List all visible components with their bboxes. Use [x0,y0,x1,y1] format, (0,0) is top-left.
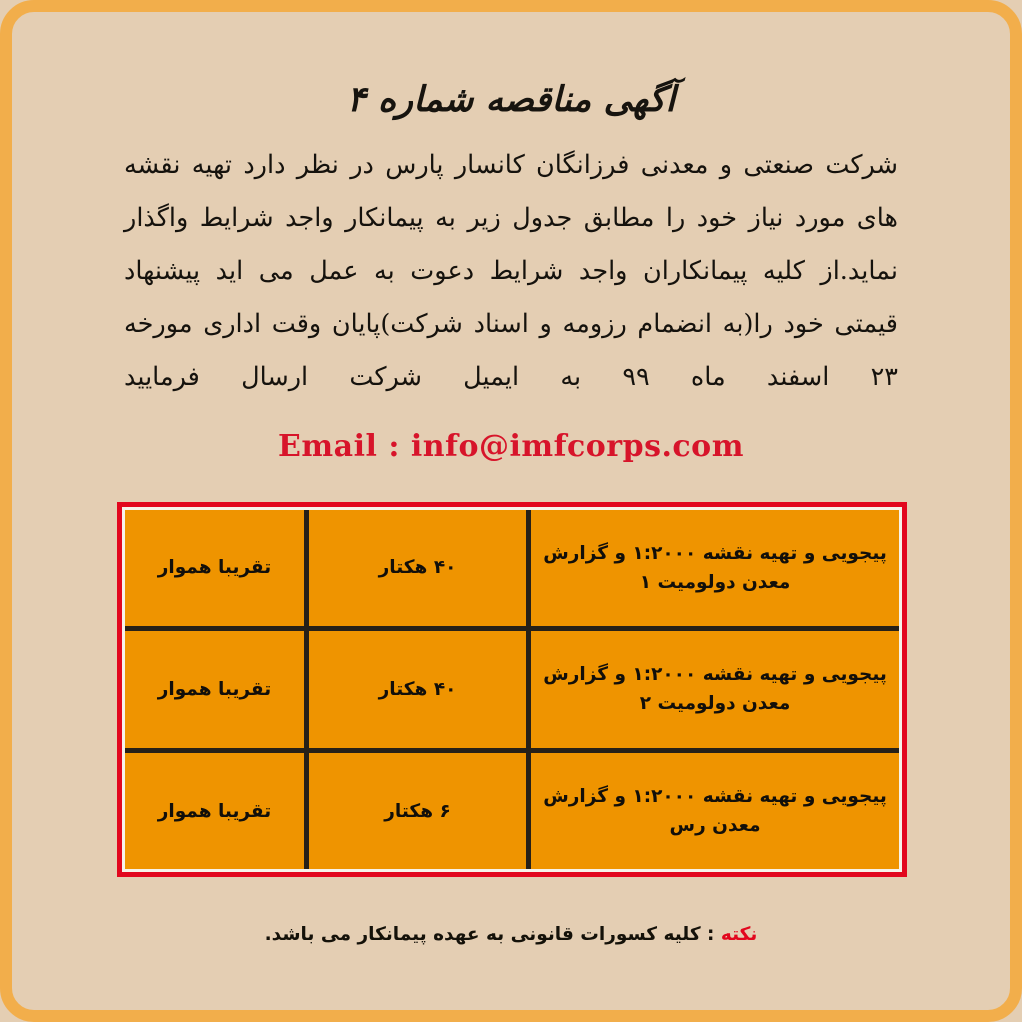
paragraph-line: شرکت صنعتی و معدنی فرزانگان کانسار پارس … [124,139,898,192]
footer-note-keyword: نکته [721,924,757,945]
footer-note-text: : کلیه کسورات قانونی به عهده پیمانکار می… [265,924,721,945]
cell-description: پیجویی و تهیه نقشه ۱:۲۰۰۰ و گزارش معدن د… [529,628,899,751]
paragraph-line: قیمتی خود را(به انضمام رزومه و اسناد شرک… [124,298,898,351]
cell-topography: تقریبا هموار [125,751,306,869]
poster-frame: آگهی مناقصه شماره ۴ شرکت صنعتی و معدنی ف… [0,0,1022,1022]
description-line-2: معدن دولومیت ۲ [640,693,791,714]
scope-table-grid: پیجویی و تهیه نقشه ۱:۲۰۰۰ و گزارش معدن د… [125,510,899,869]
paragraph-line: نماید.از کلیه پیمانکاران واجد شرایط دعوت… [124,245,898,298]
table-row: پیجویی و تهیه نقشه ۱:۲۰۰۰ و گزارش معدن د… [125,510,899,628]
cell-area: ۴۰ هکتار [306,510,528,628]
cell-description: پیجویی و تهیه نقشه ۱:۲۰۰۰ و گزارش معدن د… [529,510,899,628]
announcement-paragraph: شرکت صنعتی و معدنی فرزانگان کانسار پارس … [124,139,898,404]
paragraph-line: های مورد نیاز خود را مطابق جدول زیر به پ… [124,192,898,245]
table-row: پیجویی و تهیه نقشه ۱:۲۰۰۰ و گزارش معدن د… [125,628,899,751]
paragraph-line-deadline: ۲۳ اسفند ماه ۹۹ به ایمیل شرکت ارسال فرما… [124,351,898,404]
cell-topography: تقریبا هموار [125,628,306,751]
table-row: پیجویی و تهیه نقشه ۱:۲۰۰۰ و گزارش معدن ر… [125,751,899,869]
page-title: آگهی مناقصه شماره ۴ [12,81,1010,120]
description-line-2: معدن دولومیت ۱ [640,572,791,593]
scope-table: پیجویی و تهیه نقشه ۱:۲۰۰۰ و گزارش معدن د… [117,502,907,877]
description-line-1: پیجویی و تهیه نقشه ۱:۲۰۰۰ و گزارش [543,543,887,564]
contact-email[interactable]: Email : info@imfcorps.com [12,429,1010,464]
poster-inner: آگهی مناقصه شماره ۴ شرکت صنعتی و معدنی ف… [12,12,1010,1010]
description-line-1: پیجویی و تهیه نقشه ۱:۲۰۰۰ و گزارش [543,664,887,685]
description-line-2: معدن رس [670,815,761,836]
cell-topography: تقریبا هموار [125,510,306,628]
cell-area: ۶ هکتار [306,751,528,869]
cell-description: پیجویی و تهیه نقشه ۱:۲۰۰۰ و گزارش معدن ر… [529,751,899,869]
footer-note: نکته : کلیه کسورات قانونی به عهده پیمانک… [12,924,1010,945]
cell-area: ۴۰ هکتار [306,628,528,751]
description-line-1: پیجویی و تهیه نقشه ۱:۲۰۰۰ و گزارش [543,786,887,807]
